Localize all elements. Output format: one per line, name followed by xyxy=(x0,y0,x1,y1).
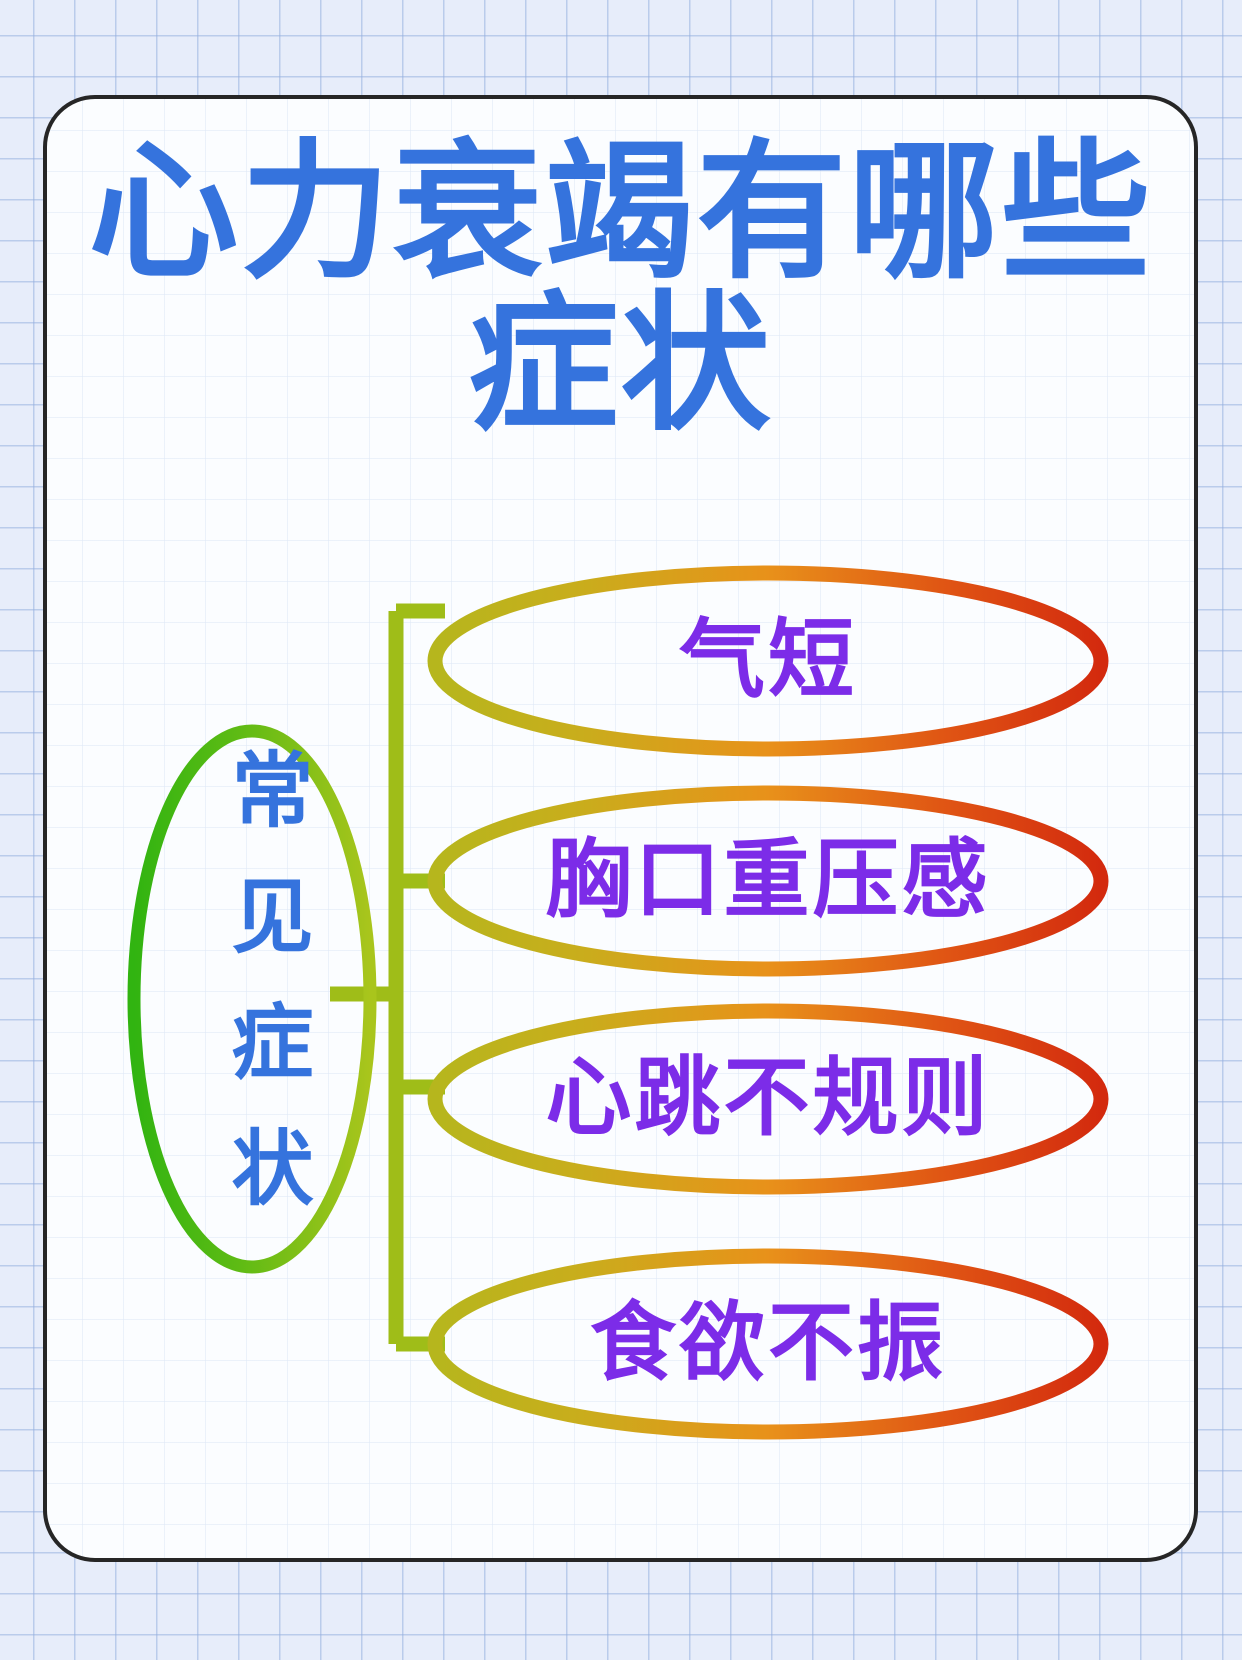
connector-lines xyxy=(330,611,445,1344)
leaf-node-ellipse-4[interactable] xyxy=(435,1256,1101,1432)
leaf-node-ellipse-1[interactable] xyxy=(435,573,1101,749)
content-card: 心力衰竭有哪些 症状 xyxy=(43,95,1198,1562)
mind-map-diagram xyxy=(47,99,1198,1562)
leaf-node-ellipse-2[interactable] xyxy=(435,793,1101,969)
poster-page: 心力衰竭有哪些 症状 xyxy=(0,0,1242,1660)
leaf-node-ellipse-3[interactable] xyxy=(435,1011,1101,1187)
